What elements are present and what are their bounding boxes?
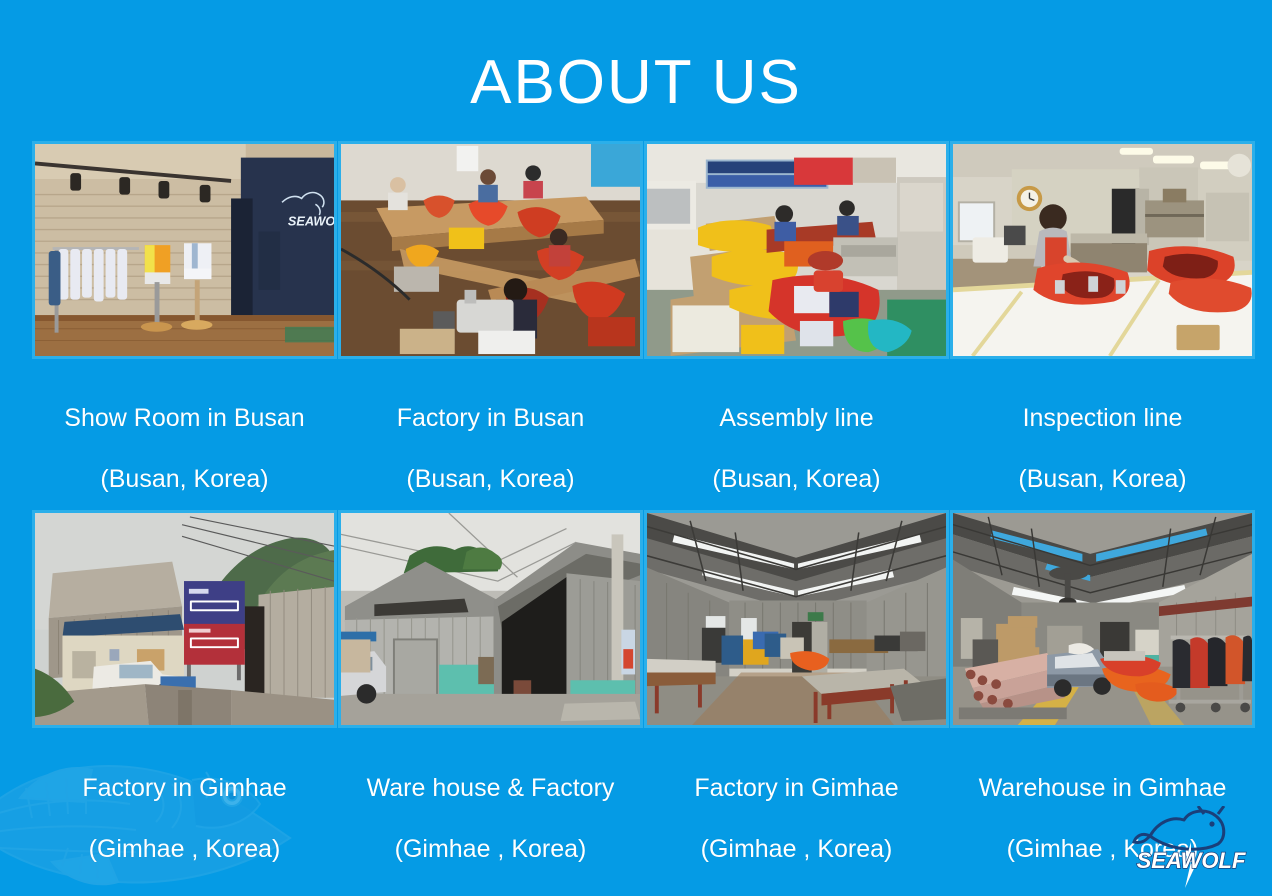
seawolf-mascot-icon — [1134, 806, 1224, 849]
caption-location: (Busan, Korea) — [1018, 465, 1186, 493]
seawolf-logo: SEAWOLF — [1132, 806, 1250, 888]
caption-location: (Busan, Korea) — [406, 465, 574, 493]
photo-gallery: SEAWOLF — [32, 141, 1252, 864]
gallery-cell-assembly-line: Assembly line (Busan, Korea) — [644, 141, 949, 494]
photo-assembly-line[interactable] — [644, 141, 949, 359]
caption-factory-gimhae-interior: Factory in Gimhae (Gimhae , Korea) — [644, 742, 949, 864]
gallery-cell-factory-gimhae-interior: Factory in Gimhae (Gimhae , Korea) — [644, 510, 949, 864]
svg-text:SEAWOLF: SEAWOLF — [288, 215, 334, 229]
gallery-cell-show-room-busan: SEAWOLF — [32, 141, 337, 494]
caption-warehouse-and-factory: Ware house & Factory (Gimhae , Korea) — [338, 742, 643, 864]
caption-title: Show Room in Busan — [64, 404, 304, 432]
gallery-cell-factory-gimhae-exterior: Factory in Gimhae (Gimhae , Korea) — [32, 510, 337, 864]
caption-location: (Gimhae , Korea) — [701, 835, 893, 863]
caption-title: Factory in Busan — [397, 404, 585, 432]
gallery-cell-inspection-line: Inspection line (Busan, Korea) — [950, 141, 1255, 494]
seawolf-logo-text: SEAWOLF — [1137, 848, 1246, 873]
caption-location: (Gimhae , Korea) — [395, 835, 587, 863]
photo-factory-gimhae-interior[interactable] — [644, 510, 949, 728]
photo-factory-gimhae-exterior[interactable] — [32, 510, 337, 728]
caption-title: Ware house & Factory — [367, 774, 615, 802]
caption-location: (Busan, Korea) — [712, 465, 880, 493]
photo-factory-busan[interactable] — [338, 141, 643, 359]
page-title: ABOUT US — [0, 52, 1272, 114]
caption-show-room-busan: Show Room in Busan (Busan, Korea) — [32, 372, 337, 494]
caption-factory-gimhae-exterior: Factory in Gimhae (Gimhae , Korea) — [32, 742, 337, 864]
caption-inspection-line: Inspection line (Busan, Korea) — [950, 372, 1255, 494]
caption-location: (Gimhae , Korea) — [89, 835, 281, 863]
photo-inspection-line[interactable] — [950, 141, 1255, 359]
caption-factory-busan: Factory in Busan (Busan, Korea) — [338, 372, 643, 494]
caption-assembly-line: Assembly line (Busan, Korea) — [644, 372, 949, 494]
caption-location: (Busan, Korea) — [100, 465, 268, 493]
gallery-row-1: SEAWOLF — [32, 141, 1252, 494]
caption-title: Factory in Gimhae — [694, 774, 898, 802]
gallery-cell-factory-busan: Factory in Busan (Busan, Korea) — [338, 141, 643, 494]
photo-warehouse-and-factory[interactable] — [338, 510, 643, 728]
caption-title: Inspection line — [1023, 404, 1183, 432]
caption-title: Factory in Gimhae — [82, 774, 286, 802]
photo-warehouse-gimhae[interactable] — [950, 510, 1255, 728]
caption-title: Assembly line — [719, 404, 873, 432]
caption-title: Warehouse in Gimhae — [979, 774, 1227, 802]
gallery-row-2: Factory in Gimhae (Gimhae , Korea) — [32, 510, 1252, 864]
photo-show-room-busan[interactable]: SEAWOLF — [32, 141, 337, 359]
gallery-cell-warehouse-and-factory: Ware house & Factory (Gimhae , Korea) — [338, 510, 643, 864]
